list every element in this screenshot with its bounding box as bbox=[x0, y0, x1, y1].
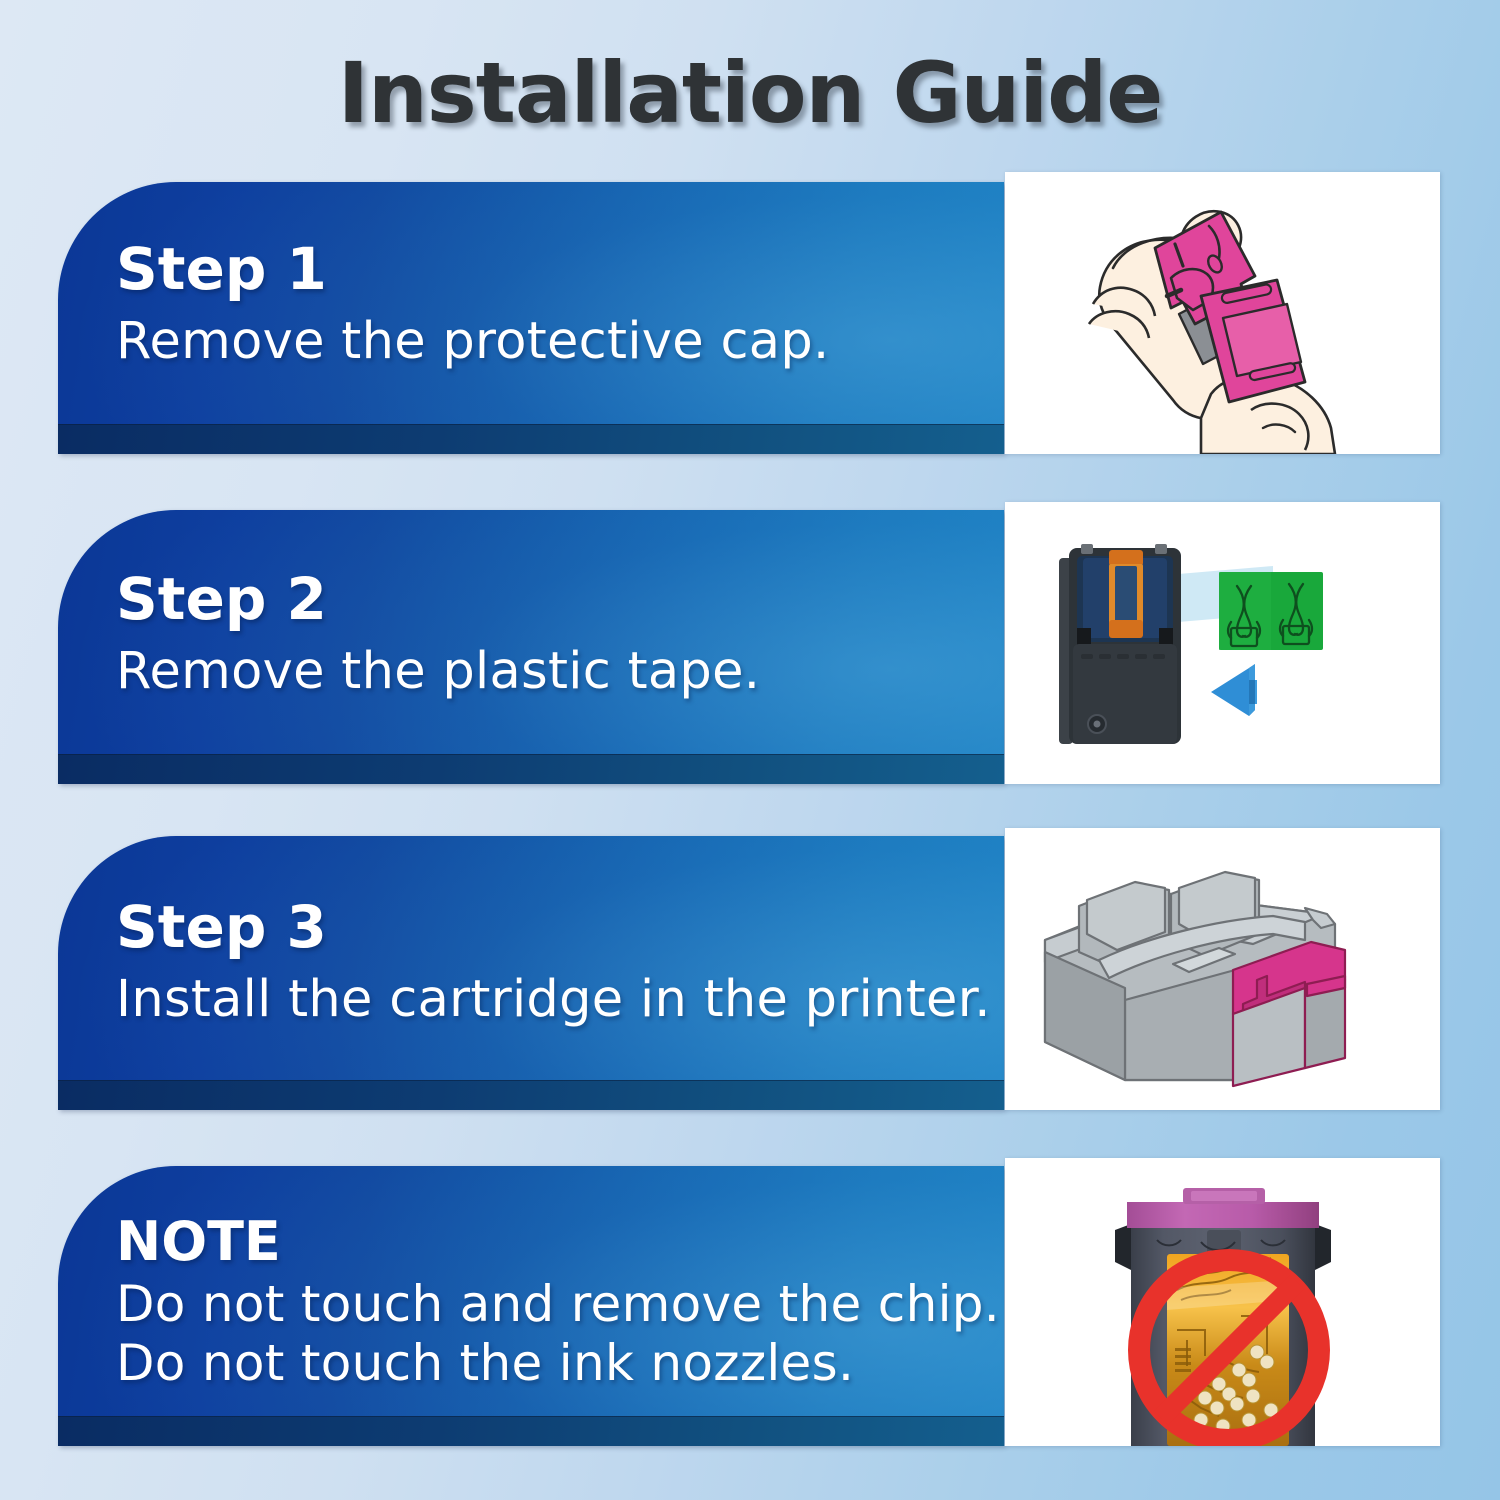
do-not-touch-chip-icon bbox=[1005, 1158, 1440, 1446]
step-card-1-bottom-strip bbox=[58, 424, 1004, 454]
step-2-description: Remove the plastic tape. bbox=[116, 641, 1004, 702]
step-1-image-panel bbox=[1005, 172, 1440, 454]
step-card-1: Step 1 Remove the protective cap. bbox=[58, 182, 1004, 454]
step-card-2: Step 2 Remove the plastic tape. bbox=[58, 510, 1004, 784]
cartridge-tape-removal-icon bbox=[1005, 502, 1440, 784]
printer-carriage-install-icon bbox=[1005, 828, 1440, 1110]
installation-guide-page: Installation Guide Step 1 Remove the pro… bbox=[0, 0, 1500, 1500]
note-card-bottom-strip bbox=[58, 1416, 1004, 1446]
note-line-2: Do not touch the ink nozzles. bbox=[116, 1334, 1004, 1393]
hand-holding-cartridge-icon bbox=[1005, 172, 1440, 454]
step-1-description: Remove the protective cap. bbox=[116, 311, 1004, 372]
step-row-1: Step 1 Remove the protective cap. bbox=[0, 172, 1500, 454]
step-2-label: Step 2 bbox=[116, 570, 1004, 629]
step-card-1-body: Step 1 Remove the protective cap. bbox=[58, 182, 1004, 372]
step-card-2-body: Step 2 Remove the plastic tape. bbox=[58, 510, 1004, 702]
step-card-3-bottom-strip bbox=[58, 1080, 1004, 1110]
pull-direction-arrow bbox=[1211, 664, 1257, 716]
page-title-container: Installation Guide bbox=[0, 44, 1500, 142]
step-card-3: Step 3 Install the cartridge in the prin… bbox=[58, 836, 1004, 1110]
note-row: NOTE Do not touch and remove the chip. D… bbox=[0, 1158, 1500, 1446]
step-card-3-body: Step 3 Install the cartridge in the prin… bbox=[58, 836, 1004, 1030]
step-row-3: Step 3 Install the cartridge in the prin… bbox=[0, 828, 1500, 1110]
step-3-image-panel bbox=[1005, 828, 1440, 1110]
step-card-2-bottom-strip bbox=[58, 754, 1004, 784]
note-image-panel bbox=[1005, 1158, 1440, 1446]
note-card-body: NOTE Do not touch and remove the chip. D… bbox=[58, 1166, 1004, 1393]
note-card: NOTE Do not touch and remove the chip. D… bbox=[58, 1166, 1004, 1446]
step-3-description: Install the cartridge in the printer. bbox=[116, 969, 1004, 1030]
step-1-label: Step 1 bbox=[116, 240, 1004, 299]
step-2-image-panel bbox=[1005, 502, 1440, 784]
step-3-label: Step 3 bbox=[116, 898, 1004, 957]
note-label: NOTE bbox=[116, 1214, 1004, 1269]
step-row-2: Step 2 Remove the plastic tape. bbox=[0, 502, 1500, 784]
page-title: Installation Guide bbox=[338, 44, 1163, 142]
note-line-1: Do not touch and remove the chip. bbox=[116, 1275, 1004, 1334]
